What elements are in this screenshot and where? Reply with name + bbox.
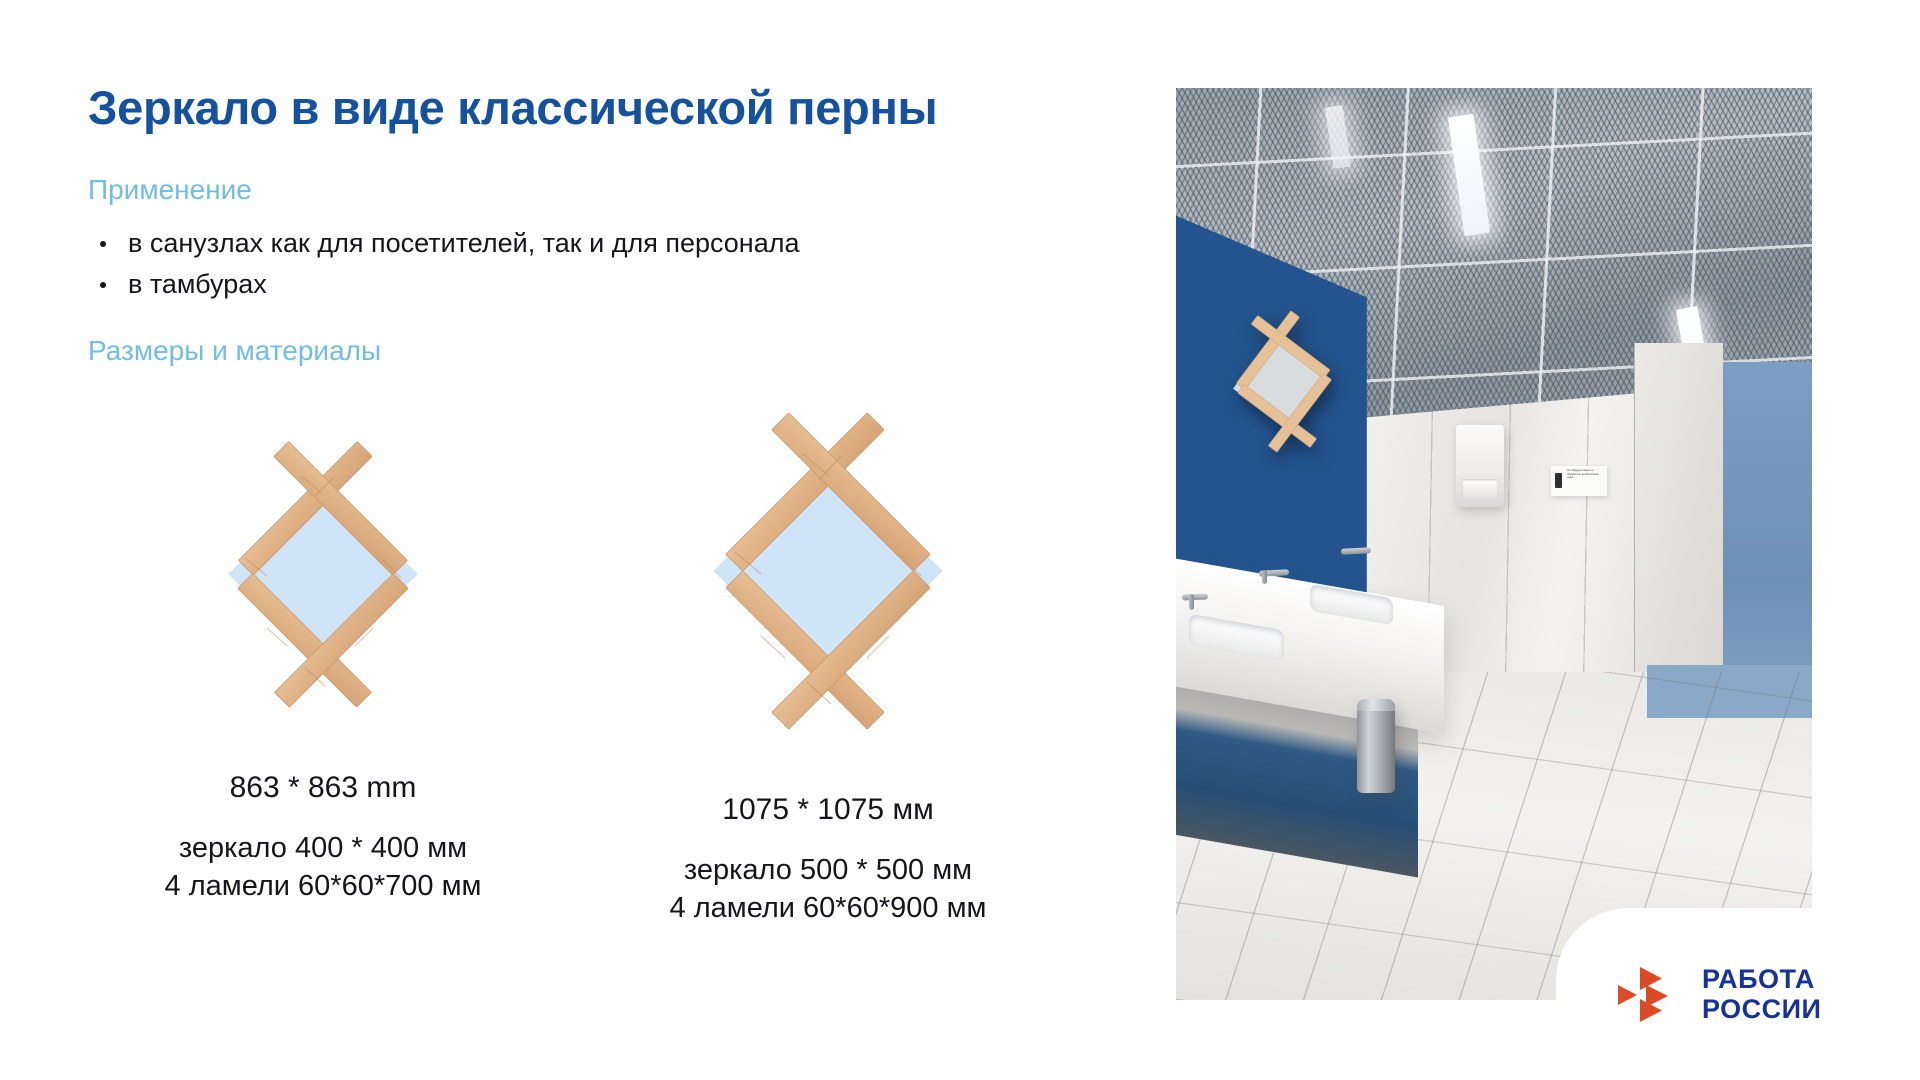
slide-root: Зеркало в виде классической перны Примен… <box>0 0 1920 1080</box>
usage-list: в санузлах как для посетителей, так и дл… <box>88 224 1108 304</box>
logo-badge: РАБОТА РОССИИ <box>1556 908 1920 1080</box>
list-item-label: в санузлах как для посетителей, так и дл… <box>128 228 800 258</box>
mirror-diamond-illustration-small <box>183 432 463 717</box>
page-title: Зеркало в виде классической перны <box>88 82 1108 135</box>
mirror-diamond-illustration-large <box>663 404 993 739</box>
bullet-dot-icon <box>100 241 106 247</box>
diagram-caption-small: 863 * 863 mm зеркало 400 * 400 мм 4 ламе… <box>165 769 482 906</box>
logo-wordmark: РАБОТА РОССИИ <box>1702 964 1821 1024</box>
list-item-label: в тамбурах <box>128 269 267 299</box>
content-column: Зеркало в виде классической перны Примен… <box>88 82 1108 368</box>
slats-label: 4 ламели 60*60*900 мм <box>670 889 987 928</box>
faucet <box>1182 594 1208 601</box>
diagram-caption-large: 1075 * 1075 мм зеркало 500 * 500 мм 4 ла… <box>670 791 987 928</box>
diagram-mirror-large: 1075 * 1075 мм зеркало 500 * 500 мм 4 ла… <box>588 432 1068 928</box>
four-triangles-logo-icon <box>1618 965 1680 1023</box>
diagram-group: 863 * 863 mm зеркало 400 * 400 мм 4 ламе… <box>88 432 1108 928</box>
paper-towel-dispenser <box>1456 425 1504 507</box>
section-heading-dimensions: Размеры и материалы <box>88 334 1108 368</box>
faucet-stem <box>1262 570 1267 584</box>
mirror-size-label: зеркало 400 * 400 мм <box>165 829 482 868</box>
list-item: в санузлах как для посетителей, так и дл… <box>88 224 848 263</box>
hygiene-sign-text: Не забудьте помыть и обработать антисепт… <box>1567 469 1598 479</box>
outer-size-label: 863 * 863 mm <box>165 769 482 807</box>
wall-mounted-mirror <box>1211 311 1349 453</box>
faucet-stem <box>1189 594 1194 610</box>
bullet-dot-icon <box>100 282 106 288</box>
logo-line-2: РОССИИ <box>1702 994 1821 1024</box>
list-item: в тамбурах <box>88 265 848 304</box>
restroom-photo: Не забудьте помыть и обработать антисепт… <box>1176 88 1812 1000</box>
slats-label: 4 ламели 60*60*700 мм <box>165 867 482 906</box>
outer-size-label: 1075 * 1075 мм <box>670 791 987 829</box>
hygiene-sign: Не забудьте помыть и обработать антисепт… <box>1551 466 1607 496</box>
section-heading-usage: Применение <box>88 173 1108 207</box>
faucet <box>1341 547 1371 555</box>
logo-line-1: РАБОТА <box>1702 964 1821 994</box>
trash-bin <box>1357 699 1395 793</box>
diagram-mirror-small: 863 * 863 mm зеркало 400 * 400 мм 4 ламе… <box>88 432 558 906</box>
sanitizer-bottle-icon <box>1555 473 1562 488</box>
mirror-size-label: зеркало 500 * 500 мм <box>670 851 987 890</box>
